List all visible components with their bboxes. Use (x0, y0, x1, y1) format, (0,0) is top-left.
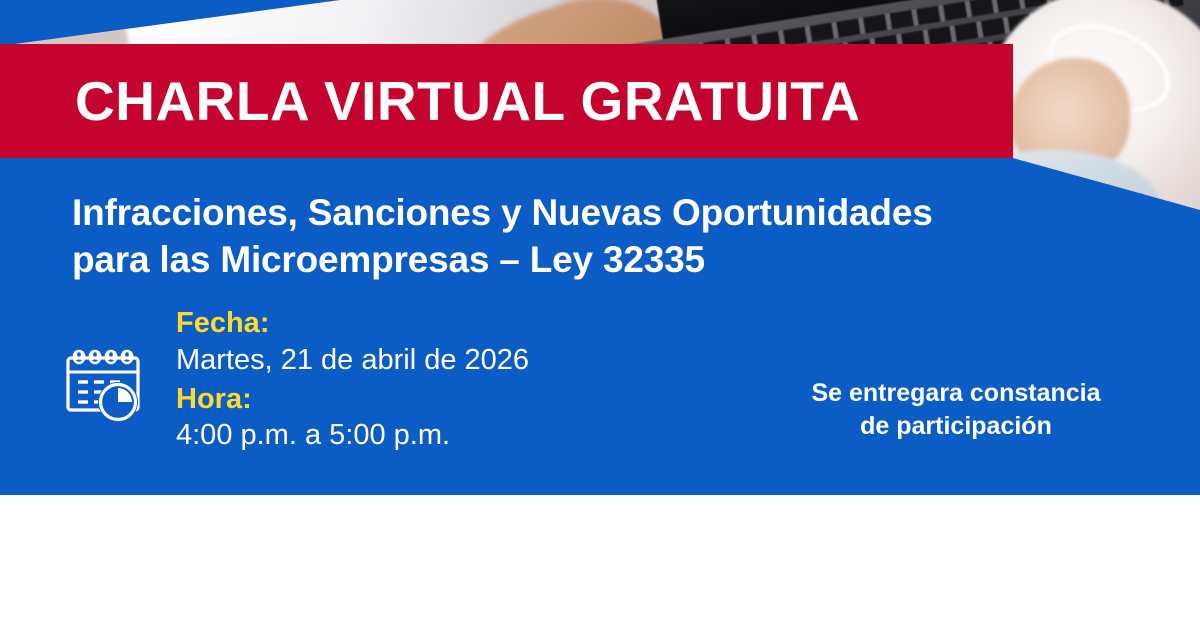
event-title-line-1: Infracciones, Sanciones y Nuevas Oportun… (72, 189, 1162, 236)
calendar-clock-icon (60, 345, 144, 429)
promo-banner: CHARLA VIRTUAL GRATUITA Infracciones, Sa… (0, 0, 1200, 628)
schedule-block: Fecha: Martes, 21 de abril de 2026 Hora:… (176, 305, 646, 456)
date-value: Martes, 21 de abril de 2026 (176, 342, 646, 379)
date-label: Fecha: (176, 305, 646, 342)
certificate-note-line-1: Se entregara constancia (772, 377, 1140, 410)
event-title-line-2: para las Microempresas – Ley 32335 (72, 236, 1162, 283)
certificate-note-line-2: de participación (772, 410, 1140, 443)
certificate-note: Se entregara constancia de participación (772, 377, 1140, 443)
headline-band: CHARLA VIRTUAL GRATUITA (0, 44, 1013, 158)
time-value: 4:00 p.m. a 5:00 p.m. (176, 417, 646, 454)
footer-logos: REPÚBLICA DEL PERÚ (0, 495, 1200, 628)
event-title: Infracciones, Sanciones y Nuevas Oportun… (72, 189, 1162, 284)
headline-text: CHARLA VIRTUAL GRATUITA (75, 74, 861, 129)
time-label: Hora: (176, 381, 646, 418)
